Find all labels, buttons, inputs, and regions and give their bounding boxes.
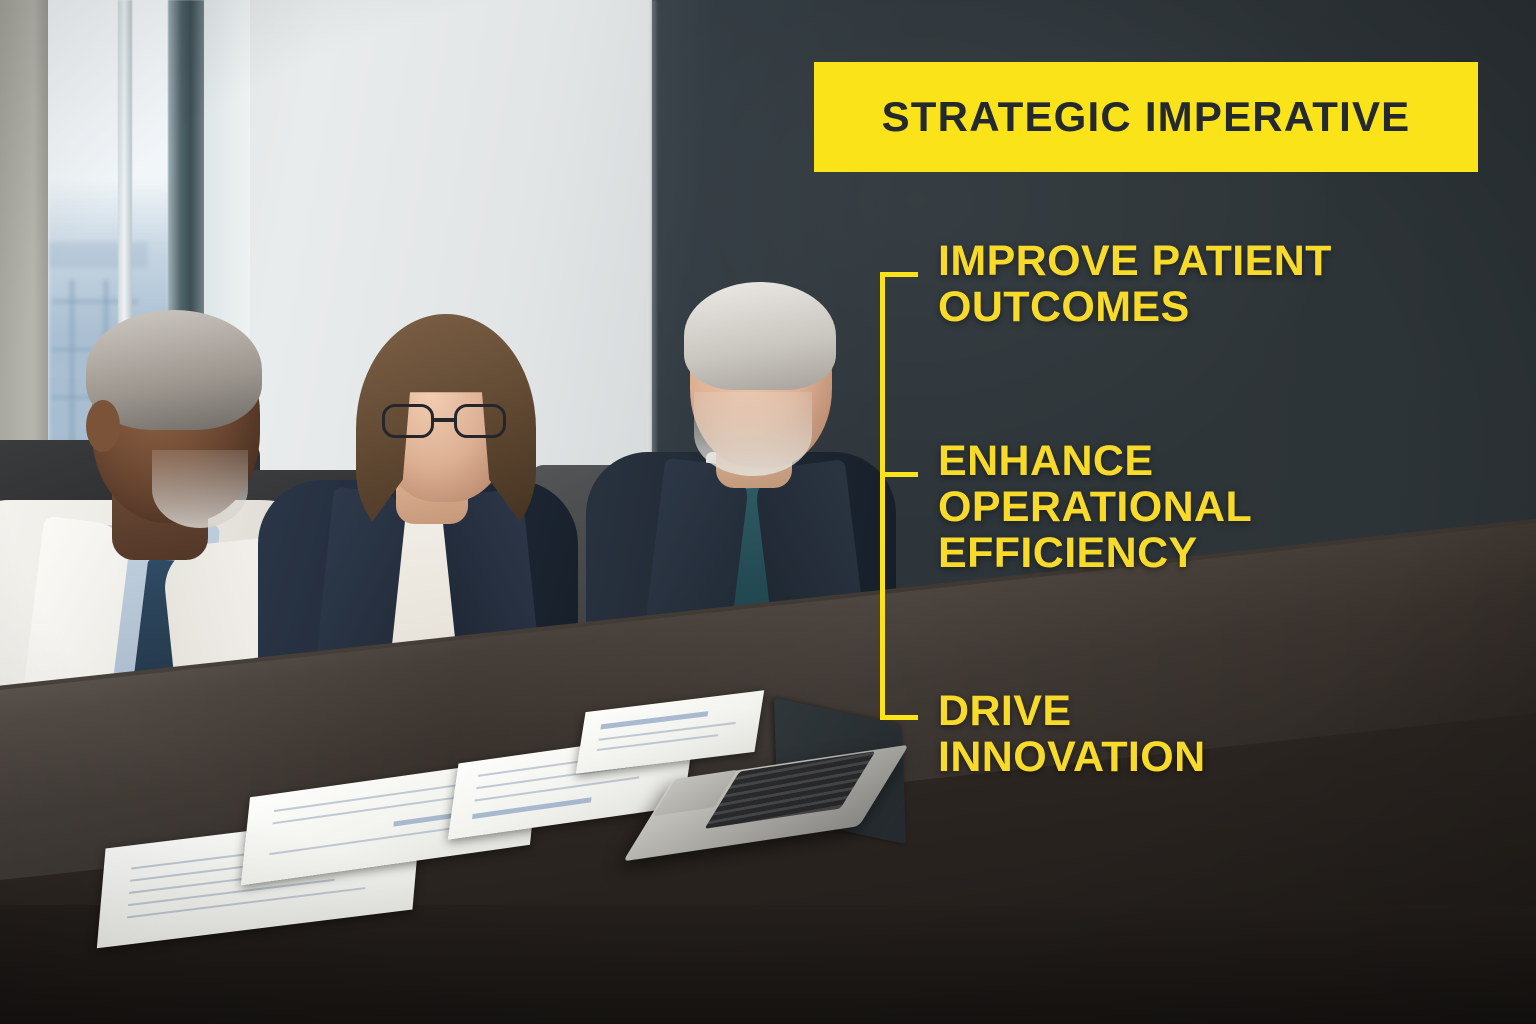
objective-enhance-operational-efficiency[interactable]: ENHANCEOPERATIONALEFFICIENCY <box>938 438 1252 576</box>
glasses <box>382 404 506 438</box>
laptop <box>648 718 898 848</box>
objective-line: OUTCOMES <box>938 284 1332 330</box>
hair <box>684 282 836 390</box>
objective-drive-innovation[interactable]: DRIVEINNOVATION <box>938 688 1206 780</box>
objective-line: EFFICIENCY <box>938 530 1252 576</box>
objective-line: IMPROVE PATIENT <box>938 238 1332 284</box>
beard <box>152 450 248 528</box>
connector-vertical-line <box>880 272 885 720</box>
objective-line: INNOVATION <box>938 734 1206 780</box>
title-banner: STRATEGIC IMPERATIVE <box>814 62 1478 172</box>
objective-line: DRIVE <box>938 688 1206 734</box>
ear <box>86 400 120 452</box>
beard <box>694 392 812 476</box>
slide-canvas: STRATEGIC IMPERATIVE IMPROVE PATIENTOUTC… <box>0 0 1536 1024</box>
connector-tick-2 <box>880 472 918 477</box>
connector-tick-1 <box>880 272 918 277</box>
objective-line: ENHANCE <box>938 438 1252 484</box>
objective-improve-patient-outcomes[interactable]: IMPROVE PATIENTOUTCOMES <box>938 238 1332 330</box>
bullet-connector-bracket <box>880 272 920 720</box>
connector-tick-3 <box>880 715 918 720</box>
banner-title: STRATEGIC IMPERATIVE <box>882 96 1411 138</box>
objective-line: OPERATIONAL <box>938 484 1252 530</box>
